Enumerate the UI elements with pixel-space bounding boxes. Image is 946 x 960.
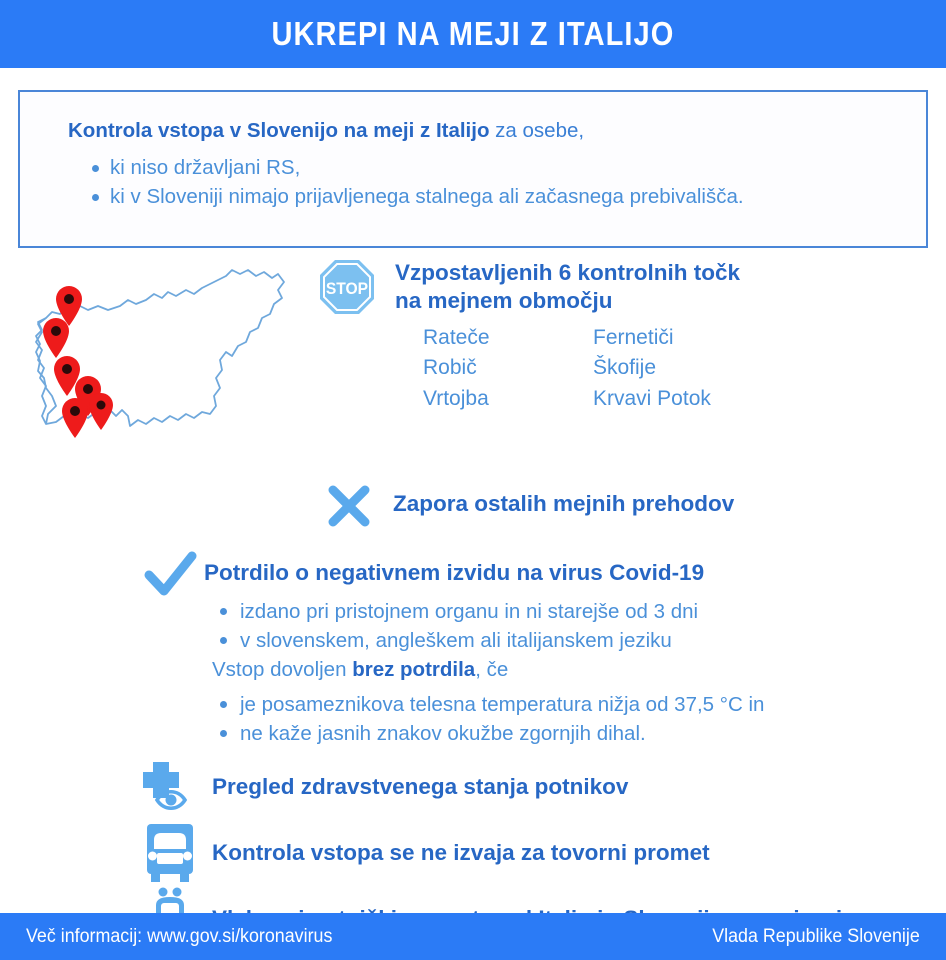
measure-label: Kontrola vstopa se ne izvaja za tovorni … bbox=[212, 840, 710, 866]
crossings-column-right: Fernetiči Škofije Krvavi Potok bbox=[593, 323, 763, 414]
checkpoints-block: STOP Vzpostavljenih 6 kontrolnih točk na… bbox=[318, 256, 928, 414]
checkpoints-heading-line2: na mejnem območju bbox=[395, 287, 740, 315]
measure-label: Pregled zdravstvenega stanja potnikov bbox=[212, 774, 628, 800]
exception-conditions-list: je posameznikova telesna temperatura niž… bbox=[212, 690, 764, 748]
notice-list: ki niso državljani RS, ki v Sloveniji ni… bbox=[68, 153, 896, 212]
exception-bold: brez potrdila bbox=[352, 658, 475, 681]
crossings-column-left: Rateče Robič Vrtojba bbox=[423, 323, 593, 414]
check-mark-icon bbox=[144, 551, 198, 599]
closed-crossings-row: Zapora ostalih mejnih prehodov bbox=[0, 475, 946, 537]
notice-lead-bold: Kontrola vstopa v Slovenijo na meji z It… bbox=[68, 119, 489, 142]
footer-more-info[interactable]: Več informacij: www.gov.si/koronavirus bbox=[26, 926, 332, 948]
list-item: Vrtojba bbox=[423, 384, 593, 414]
certificate-heading: Potrdilo o negativnem izvidu na virus Co… bbox=[204, 560, 704, 586]
list-item: ne kaže jasnih znakov okužbe zgornjih di… bbox=[212, 719, 764, 748]
slovenia-map-svg bbox=[16, 256, 316, 471]
measure-row-freight: Kontrola vstopa se ne izvaja za tovorni … bbox=[0, 820, 946, 886]
page-title: UKREPI NA MEJI Z ITALIJO bbox=[272, 15, 675, 53]
list-item: Krvavi Potok bbox=[593, 384, 763, 414]
entry-control-notice-box: Kontrola vstopa v Slovenijo na meji z It… bbox=[18, 90, 928, 248]
closed-crossings-label: Zapora ostalih mejnih prehodov bbox=[393, 491, 734, 517]
exception-lead: Vstop dovoljen brez potrdila, če bbox=[212, 658, 508, 682]
notice-lead-rest: za osebe, bbox=[489, 119, 584, 142]
header-bar: UKREPI NA MEJI Z ITALIJO bbox=[0, 0, 946, 68]
footer-publisher: Vlada Republike Slovenije bbox=[712, 926, 920, 948]
border-crossings-list: Rateče Robič Vrtojba Fernetiči Škofije K… bbox=[423, 323, 928, 414]
checkpoints-heading: Vzpostavljenih 6 kontrolnih točk na mejn… bbox=[395, 256, 740, 316]
list-item: je posameznikova telesna temperatura niž… bbox=[212, 690, 764, 719]
list-item: Škofije bbox=[593, 353, 763, 383]
svg-text:STOP: STOP bbox=[326, 279, 368, 298]
exception-suffix: , če bbox=[475, 658, 508, 681]
list-item: izdano pri pristojnem organu in ni stare… bbox=[212, 597, 698, 626]
notice-wrapper: Kontrola vstopa v Slovenijo na meji z It… bbox=[0, 68, 946, 248]
list-item: Rateče bbox=[423, 323, 593, 353]
list-item: v slovenskem, angleškem ali italijanskem… bbox=[212, 626, 698, 655]
checkpoints-heading-row: STOP Vzpostavljenih 6 kontrolnih točk na… bbox=[318, 256, 928, 316]
certificate-block: Potrdilo o negativnem izvidu na virus Co… bbox=[0, 545, 946, 750]
notice-lead-line: Kontrola vstopa v Slovenijo na meji z It… bbox=[68, 118, 896, 144]
map-and-checkpoints-section: STOP Vzpostavljenih 6 kontrolnih točk na… bbox=[0, 248, 946, 473]
truck-icon bbox=[134, 822, 206, 884]
checkpoints-heading-line1: Vzpostavljenih 6 kontrolnih točk bbox=[395, 259, 740, 287]
list-item: Fernetiči bbox=[593, 323, 763, 353]
certificate-requirements-list: izdano pri pristojnem organu in ni stare… bbox=[212, 597, 698, 655]
x-mark-icon bbox=[326, 483, 372, 529]
map-pin-icon bbox=[89, 393, 113, 430]
footer-bar: Več informacij: www.gov.si/koronavirus V… bbox=[0, 913, 946, 960]
list-item: ki niso državljani RS, bbox=[68, 153, 896, 183]
map-pin-icon bbox=[43, 318, 69, 358]
medical-eye-icon bbox=[134, 756, 206, 818]
stop-sign-icon: STOP bbox=[318, 258, 376, 316]
measure-row-health-check: Pregled zdravstvenega stanja potnikov bbox=[0, 754, 946, 820]
list-item: Robič bbox=[423, 353, 593, 383]
map-pin-icon bbox=[62, 398, 88, 438]
exception-prefix: Vstop dovoljen bbox=[212, 658, 352, 681]
list-item: ki v Sloveniji nimajo prijavljenega stal… bbox=[68, 182, 896, 212]
slovenia-map bbox=[16, 256, 316, 471]
